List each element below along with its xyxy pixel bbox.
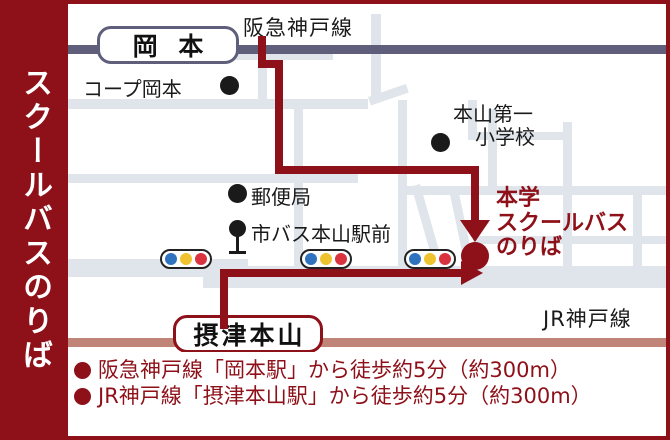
destination-label: 本学 スクールバス のりば [496,187,628,261]
signal-lamp-yellow-icon [180,253,192,265]
map-canvas: 阪急神戸線 JR神戸線 岡 本 摂津本山 コープ岡本 本山第一 小学校 郵便局 [68,4,666,352]
signal-lamp-yellow-icon [320,253,332,265]
route-okamoto-vertical-long [275,60,283,174]
bullet-icon [74,362,91,379]
signal-lamp-red-icon [335,253,347,265]
poi-label-line2: 小学校 [475,126,535,149]
side-banner-label: スクールバスのりば [19,67,49,373]
poi-dot-post-office [228,184,247,203]
rail-line-jr [68,338,666,347]
school-bus-access-map: スクールバスのりば 阪急神戸線 JR神戸線 [0,0,670,440]
destination-label-line2: スクールバス [496,212,628,237]
poi-label-motoyama-daiichi-elementary: 本山第一 小学校 [453,103,535,149]
access-note-row: 阪急神戸線「岡本駅」から徒歩約5分（約300m） [74,358,666,384]
route-arrowhead-down [460,220,490,242]
access-note-text: JR神戸線「摂津本山駅」から徒歩約5分（約300m） [98,384,592,410]
station-plate-settsu-motoyama[interactable]: 摂津本山 [173,315,323,352]
poi-dot-motoyama-daiichi-elementary [431,133,450,152]
poi-label-line1: 本山第一 [453,103,535,126]
route-motoyama-vertical [220,269,228,329]
road-v-4 [371,14,381,102]
road-v-1 [258,62,267,102]
poi-dot-coop-okamoto [220,76,239,95]
destination-label-line3: のりば [496,236,628,261]
road-v-8 [563,122,572,192]
access-note-row: JR神戸線「摂津本山駅」から徒歩約5分（約300m） [74,384,666,410]
bus-stop-base [229,251,246,254]
side-banner: スクールバスのりば [0,0,68,440]
road-v-10 [633,186,642,271]
signal-lamp-blue-icon [165,253,177,265]
traffic-signal-2 [300,249,352,269]
traffic-signal-1 [160,249,212,269]
signal-lamp-red-icon [195,253,207,265]
destination-label-line1: 本学 [496,187,628,212]
rail-label-jr: JR神戸線 [543,303,632,333]
access-note-text: 阪急神戸線「岡本駅」から徒歩約5分（約300m） [98,358,571,384]
route-motoyama-horizontal [220,269,465,277]
station-plate-okamoto[interactable]: 岡 本 [97,26,239,64]
poi-label-city-bus-motoyama-station: 市バス本山駅前 [251,218,391,247]
route-okamoto-vertical-final [471,166,479,226]
bullet-icon [74,388,91,405]
route-okamoto-horizontal-2 [275,166,479,174]
road-v-5 [398,100,407,170]
signal-lamp-blue-icon [305,253,317,265]
signal-lamp-yellow-icon [424,253,436,265]
traffic-signal-3 [404,249,456,269]
destination-dot [461,242,489,270]
poi-label-post-office: 郵便局 [251,181,311,210]
bus-stop-icon [229,220,246,256]
road-h-2 [68,174,358,183]
signal-lamp-red-icon [439,253,451,265]
poi-label-coop-okamoto: コープ岡本 [83,73,182,102]
access-notes: 阪急神戸線「岡本駅」から徒歩約5分（約300m） JR神戸線「摂津本山駅」から徒… [68,352,666,436]
signal-lamp-blue-icon [409,253,421,265]
